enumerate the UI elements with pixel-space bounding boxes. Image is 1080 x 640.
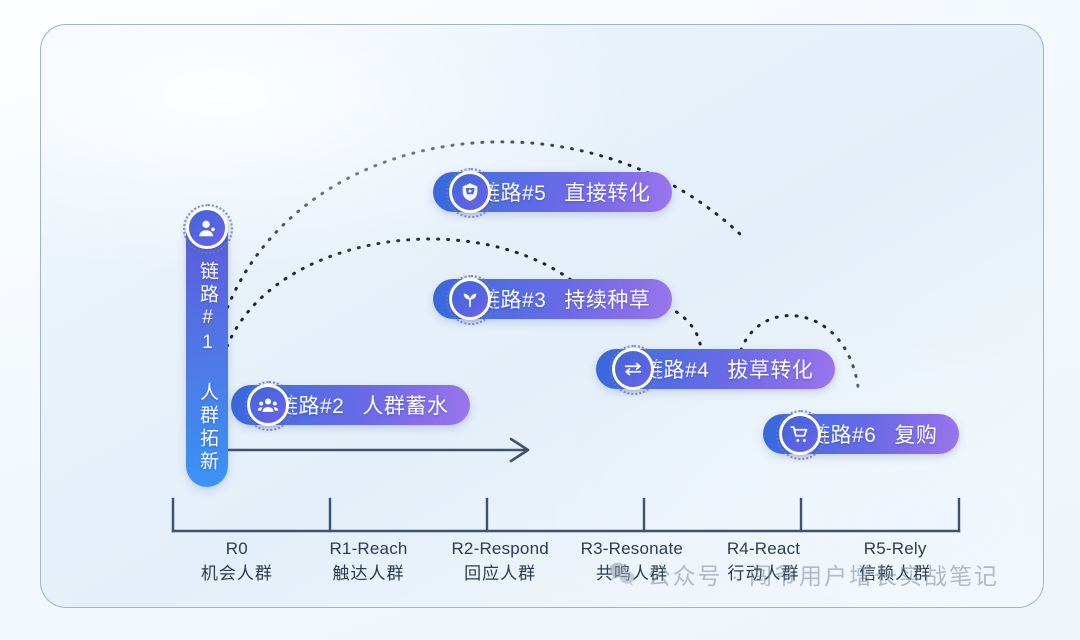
sprout-icon: [449, 278, 491, 320]
chain-pill-2-text: 人群蓄水: [362, 395, 448, 418]
chain-pill-3-text: 持续种草: [564, 289, 650, 312]
axis-stage-r2-en: R2-Respond: [434, 537, 566, 562]
axis-stage-r2-cn: 回应人群: [434, 562, 566, 587]
stage-axis: [171, 495, 961, 535]
axis-stage-r2: R2-Respond 回应人群: [434, 537, 566, 586]
axis-stage-r0-cn: 机会人群: [171, 562, 303, 587]
chain-pill-5-text: 直接转化: [564, 182, 650, 205]
wechat-icon: [608, 560, 636, 588]
chain-pill-5-label: 链路#5直接转化: [479, 177, 650, 207]
shopping-cart-icon: [779, 413, 821, 455]
exchange-arrows-icon: [612, 348, 654, 390]
flow-arrow: [211, 430, 541, 470]
chain-pill-6-label: 链路#6复购: [809, 419, 937, 449]
user-icon: [186, 207, 228, 249]
watermark: 公众号 · 闯爷用户增长实战笔记: [608, 557, 999, 591]
axis-stage-r0-en: R0: [171, 537, 303, 562]
users-group-icon: [247, 384, 289, 426]
chain-pill-4-text: 拔草转化: [727, 359, 813, 382]
watermark-text: 公众号 · 闯爷用户增长实战笔记: [648, 557, 999, 591]
badge-dotted-ring: [183, 204, 233, 254]
chain-pill-1[interactable]: 链路#1 人群拓新: [186, 215, 228, 487]
chain-pill-2-label: 链路#2人群蓄水: [277, 390, 448, 420]
axis-stage-r1: R1-Reach 触达人群: [303, 537, 435, 586]
chain-pill-4-label: 链路#4拔草转化: [642, 354, 813, 384]
chain-pill-6-text: 复购: [894, 424, 937, 447]
badge-dotted-ring: [244, 381, 294, 431]
badge-dotted-ring: [446, 168, 496, 218]
badge-dotted-ring: [446, 275, 496, 325]
axis-stage-r1-en: R1-Reach: [303, 537, 435, 562]
shield-cart-icon: [449, 171, 491, 213]
chain-pill-1-label: 链路#1 人群拓新: [186, 261, 228, 474]
diagram-root: 链路#1 人群拓新 链路#5直接转化: [0, 0, 1080, 640]
axis-stage-r1-cn: 触达人群: [303, 562, 435, 587]
badge-dotted-ring: [609, 345, 659, 395]
axis-stage-r0: R0 机会人群: [171, 537, 303, 586]
diagram-card: 链路#1 人群拓新 链路#5直接转化: [40, 24, 1044, 608]
chain-pill-3-label: 链路#3持续种草: [479, 284, 650, 314]
badge-dotted-ring: [776, 410, 826, 460]
